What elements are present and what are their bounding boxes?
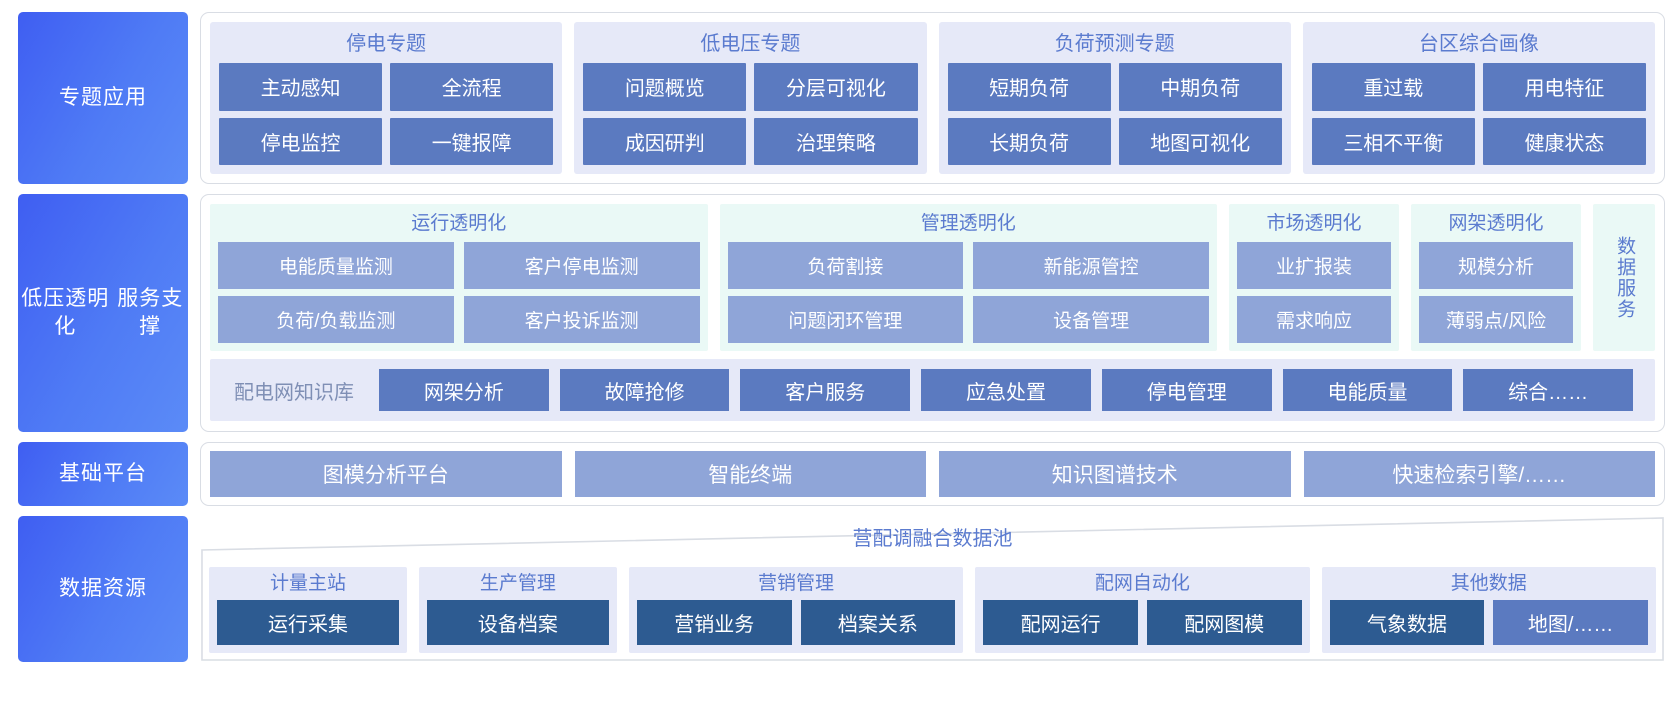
tile-weather-data[interactable]: 气象数据 — [1330, 600, 1485, 645]
tile-map-visualization[interactable]: 地图可视化 — [1119, 118, 1282, 166]
group-title: 市场透明化 — [1237, 209, 1391, 242]
group-market-transparency: 市场透明化 业扩报装 需求响应 — [1229, 204, 1399, 351]
tile-power-quality[interactable]: 电能质量 — [1283, 369, 1453, 411]
data-pool-container: 营配调融合数据池 计量主站 运行采集 生产管理 设备档案 — [200, 516, 1665, 662]
tile-row: 营销业务 档案关系 — [637, 600, 955, 645]
group-title: 生产管理 — [427, 570, 609, 600]
tile-row: 配网运行 配网图模 — [983, 600, 1301, 645]
tile-load-transfer[interactable]: 负荷割接 — [728, 242, 964, 289]
architecture-diagram: 专题应用 停电专题 主动感知 全流程 停电监控 一键报障 低电压专题 问题概览 … — [0, 0, 1679, 707]
layer-row-transparency-service-support: 低压透明化 服务支撑 运行透明化 电能质量监测 客户停电监测 负荷/负载监测 客… — [18, 194, 1665, 432]
group-title: 网架透明化 — [1419, 209, 1573, 242]
data-pool-title: 营配调融合数据池 — [200, 522, 1665, 551]
group-title: 其他数据 — [1330, 570, 1648, 600]
tile-operation-collection[interactable]: 运行采集 — [217, 600, 399, 645]
group-title: 运行透明化 — [218, 209, 700, 242]
row-body-base-platform: 图模分析平台 智能终端 知识图谱技术 快速检索引擎/…… — [200, 442, 1665, 506]
tile-grid: 电能质量监测 客户停电监测 负荷/负载监测 客户投诉监测 — [218, 242, 700, 343]
tile-grid: 问题概览 分层可视化 成因研判 治理策略 — [583, 63, 917, 165]
tile-medium-term-load[interactable]: 中期负荷 — [1119, 63, 1282, 111]
tile-map-more[interactable]: 地图/…… — [1493, 600, 1648, 645]
row-body-data-resources: 营配调融合数据池 计量主站 运行采集 生产管理 设备档案 — [200, 516, 1665, 662]
layer-row-thematic-applications: 专题应用 停电专题 主动感知 全流程 停电监控 一键报障 低电压专题 问题概览 … — [18, 12, 1665, 184]
tile-grid-analysis[interactable]: 网架分析 — [379, 369, 549, 411]
tile-outage-monitoring[interactable]: 停电监控 — [219, 118, 382, 166]
tile-three-phase-imbalance[interactable]: 三相不平衡 — [1312, 118, 1475, 166]
tile-row: 设备档案 — [427, 600, 609, 645]
tile-load-monitoring[interactable]: 负荷/负载监测 — [218, 296, 454, 343]
group-title: 负荷预测专题 — [948, 28, 1282, 63]
tile-graph-model-analysis-platform[interactable]: 图模分析平台 — [210, 451, 562, 497]
group-station-profile: 台区综合画像 重过载 用电特征 三相不平衡 健康状态 — [1303, 22, 1655, 174]
tile-closed-loop-problem-management[interactable]: 问题闭环管理 — [728, 296, 964, 343]
tile-distribution-graph-model[interactable]: 配网图模 — [1147, 600, 1302, 645]
tile-customer-outage-monitoring[interactable]: 客户停电监测 — [464, 242, 700, 289]
tile-emergency-handling[interactable]: 应急处置 — [921, 369, 1091, 411]
group-power-outage: 停电专题 主动感知 全流程 停电监控 一键报障 — [210, 22, 562, 174]
group-metering-master-station: 计量主站 运行采集 — [209, 567, 407, 653]
row-label-base-platform: 基础平台 — [18, 442, 188, 506]
tile-weak-point-risk[interactable]: 薄弱点/风险 — [1419, 296, 1573, 343]
row-body-transparency-service-support: 运行透明化 电能质量监测 客户停电监测 负荷/负载监测 客户投诉监测 管理透明化… — [200, 194, 1665, 432]
row-label-transparency-service-support: 低压透明化 服务支撑 — [18, 194, 188, 432]
tile-outage-management[interactable]: 停电管理 — [1102, 369, 1272, 411]
tile-grid: 负荷割接 新能源管控 问题闭环管理 设备管理 — [728, 242, 1210, 343]
tile-layered-visualization[interactable]: 分层可视化 — [754, 63, 917, 111]
group-title: 配网自动化 — [983, 570, 1301, 600]
tile-full-process[interactable]: 全流程 — [390, 63, 553, 111]
tile-demand-response[interactable]: 需求响应 — [1237, 296, 1391, 343]
side-panel-data-service: 数据服务 — [1593, 204, 1655, 351]
knowledge-base-bar: 配电网知识库 网架分析 故障抢修 客户服务 应急处置 停电管理 电能质量 综合…… — [210, 359, 1655, 421]
tile-active-sensing[interactable]: 主动感知 — [219, 63, 382, 111]
group-operation-transparency: 运行透明化 电能质量监测 客户停电监测 负荷/负载监测 客户投诉监测 — [210, 204, 708, 351]
tile-archive-relationship[interactable]: 档案关系 — [801, 600, 956, 645]
tile-long-term-load[interactable]: 长期负荷 — [948, 118, 1111, 166]
tile-grid: 业扩报装 需求响应 — [1237, 242, 1391, 343]
tile-grid: 主动感知 全流程 停电监控 一键报障 — [219, 63, 553, 165]
group-title: 营销管理 — [637, 570, 955, 600]
tile-cause-analysis[interactable]: 成因研判 — [583, 118, 746, 166]
knowledge-base-label: 配电网知识库 — [234, 376, 354, 405]
tile-distribution-operation[interactable]: 配网运行 — [983, 600, 1138, 645]
tile-grid: 短期负荷 中期负荷 长期负荷 地图可视化 — [948, 63, 1282, 165]
tile-equipment-archive[interactable]: 设备档案 — [427, 600, 609, 645]
tile-customer-service[interactable]: 客户服务 — [740, 369, 910, 411]
row-label-data-resources: 数据资源 — [18, 516, 188, 662]
tile-smart-terminal[interactable]: 智能终端 — [575, 451, 927, 497]
tile-grid: 重过载 用电特征 三相不平衡 健康状态 — [1312, 63, 1646, 165]
group-other-data: 其他数据 气象数据 地图/…… — [1322, 567, 1656, 653]
tile-equipment-management[interactable]: 设备管理 — [973, 296, 1209, 343]
tile-business-expansion[interactable]: 业扩报装 — [1237, 242, 1391, 289]
tile-short-term-load[interactable]: 短期负荷 — [948, 63, 1111, 111]
row-label-line-1: 低压透明化 — [18, 285, 112, 341]
row-label-line-2: 服务支撑 — [112, 285, 188, 341]
tile-health-status[interactable]: 健康状态 — [1483, 118, 1646, 166]
tile-one-click-fault-report[interactable]: 一键报障 — [390, 118, 553, 166]
group-load-forecast: 负荷预测专题 短期负荷 中期负荷 长期负荷 地图可视化 — [939, 22, 1291, 174]
tile-fast-search-engine[interactable]: 快速检索引擎/…… — [1304, 451, 1656, 497]
tile-comprehensive-more[interactable]: 综合…… — [1463, 369, 1633, 411]
tile-new-energy-control[interactable]: 新能源管控 — [973, 242, 1209, 289]
group-marketing-management: 营销管理 营销业务 档案关系 — [629, 567, 963, 653]
group-title: 台区综合画像 — [1312, 28, 1646, 63]
tile-power-quality-monitoring[interactable]: 电能质量监测 — [218, 242, 454, 289]
group-title: 停电专题 — [219, 28, 553, 63]
tile-heavy-overload[interactable]: 重过载 — [1312, 63, 1475, 111]
group-management-transparency: 管理透明化 负荷割接 新能源管控 问题闭环管理 设备管理 — [720, 204, 1218, 351]
data-source-groups: 计量主站 运行采集 生产管理 设备档案 营销管理 — [209, 567, 1656, 653]
group-title: 低电压专题 — [583, 28, 917, 63]
tile-fault-repair[interactable]: 故障抢修 — [560, 369, 730, 411]
tile-scale-analysis[interactable]: 规模分析 — [1419, 242, 1573, 289]
transparency-groups: 运行透明化 电能质量监测 客户停电监测 负荷/负载监测 客户投诉监测 管理透明化… — [210, 204, 1655, 351]
group-title: 计量主站 — [217, 570, 399, 600]
tile-customer-complaint-monitoring[interactable]: 客户投诉监测 — [464, 296, 700, 343]
tile-grid: 规模分析 薄弱点/风险 — [1419, 242, 1573, 343]
group-production-management: 生产管理 设备档案 — [419, 567, 617, 653]
tile-governance-strategy[interactable]: 治理策略 — [754, 118, 917, 166]
row-label-thematic-applications: 专题应用 — [18, 12, 188, 184]
tile-row: 运行采集 — [217, 600, 399, 645]
tile-marketing-business[interactable]: 营销业务 — [637, 600, 792, 645]
tile-power-usage-characteristics[interactable]: 用电特征 — [1483, 63, 1646, 111]
group-distribution-automation: 配网自动化 配网运行 配网图模 — [975, 567, 1309, 653]
tile-row: 气象数据 地图/…… — [1330, 600, 1648, 645]
group-title: 管理透明化 — [728, 209, 1210, 242]
tile-problem-overview[interactable]: 问题概览 — [583, 63, 746, 111]
row-body-thematic-applications: 停电专题 主动感知 全流程 停电监控 一键报障 低电压专题 问题概览 分层可视化… — [200, 12, 1665, 184]
tile-knowledge-graph-technology[interactable]: 知识图谱技术 — [939, 451, 1291, 497]
layer-row-data-resources: 数据资源 营配调融合数据池 计量主站 运行采集 生产管理 — [18, 516, 1665, 662]
group-low-voltage: 低电压专题 问题概览 分层可视化 成因研判 治理策略 — [574, 22, 926, 174]
layer-row-base-platform: 基础平台 图模分析平台 智能终端 知识图谱技术 快速检索引擎/…… — [18, 442, 1665, 506]
group-grid-structure-transparency: 网架透明化 规模分析 薄弱点/风险 — [1411, 204, 1581, 351]
